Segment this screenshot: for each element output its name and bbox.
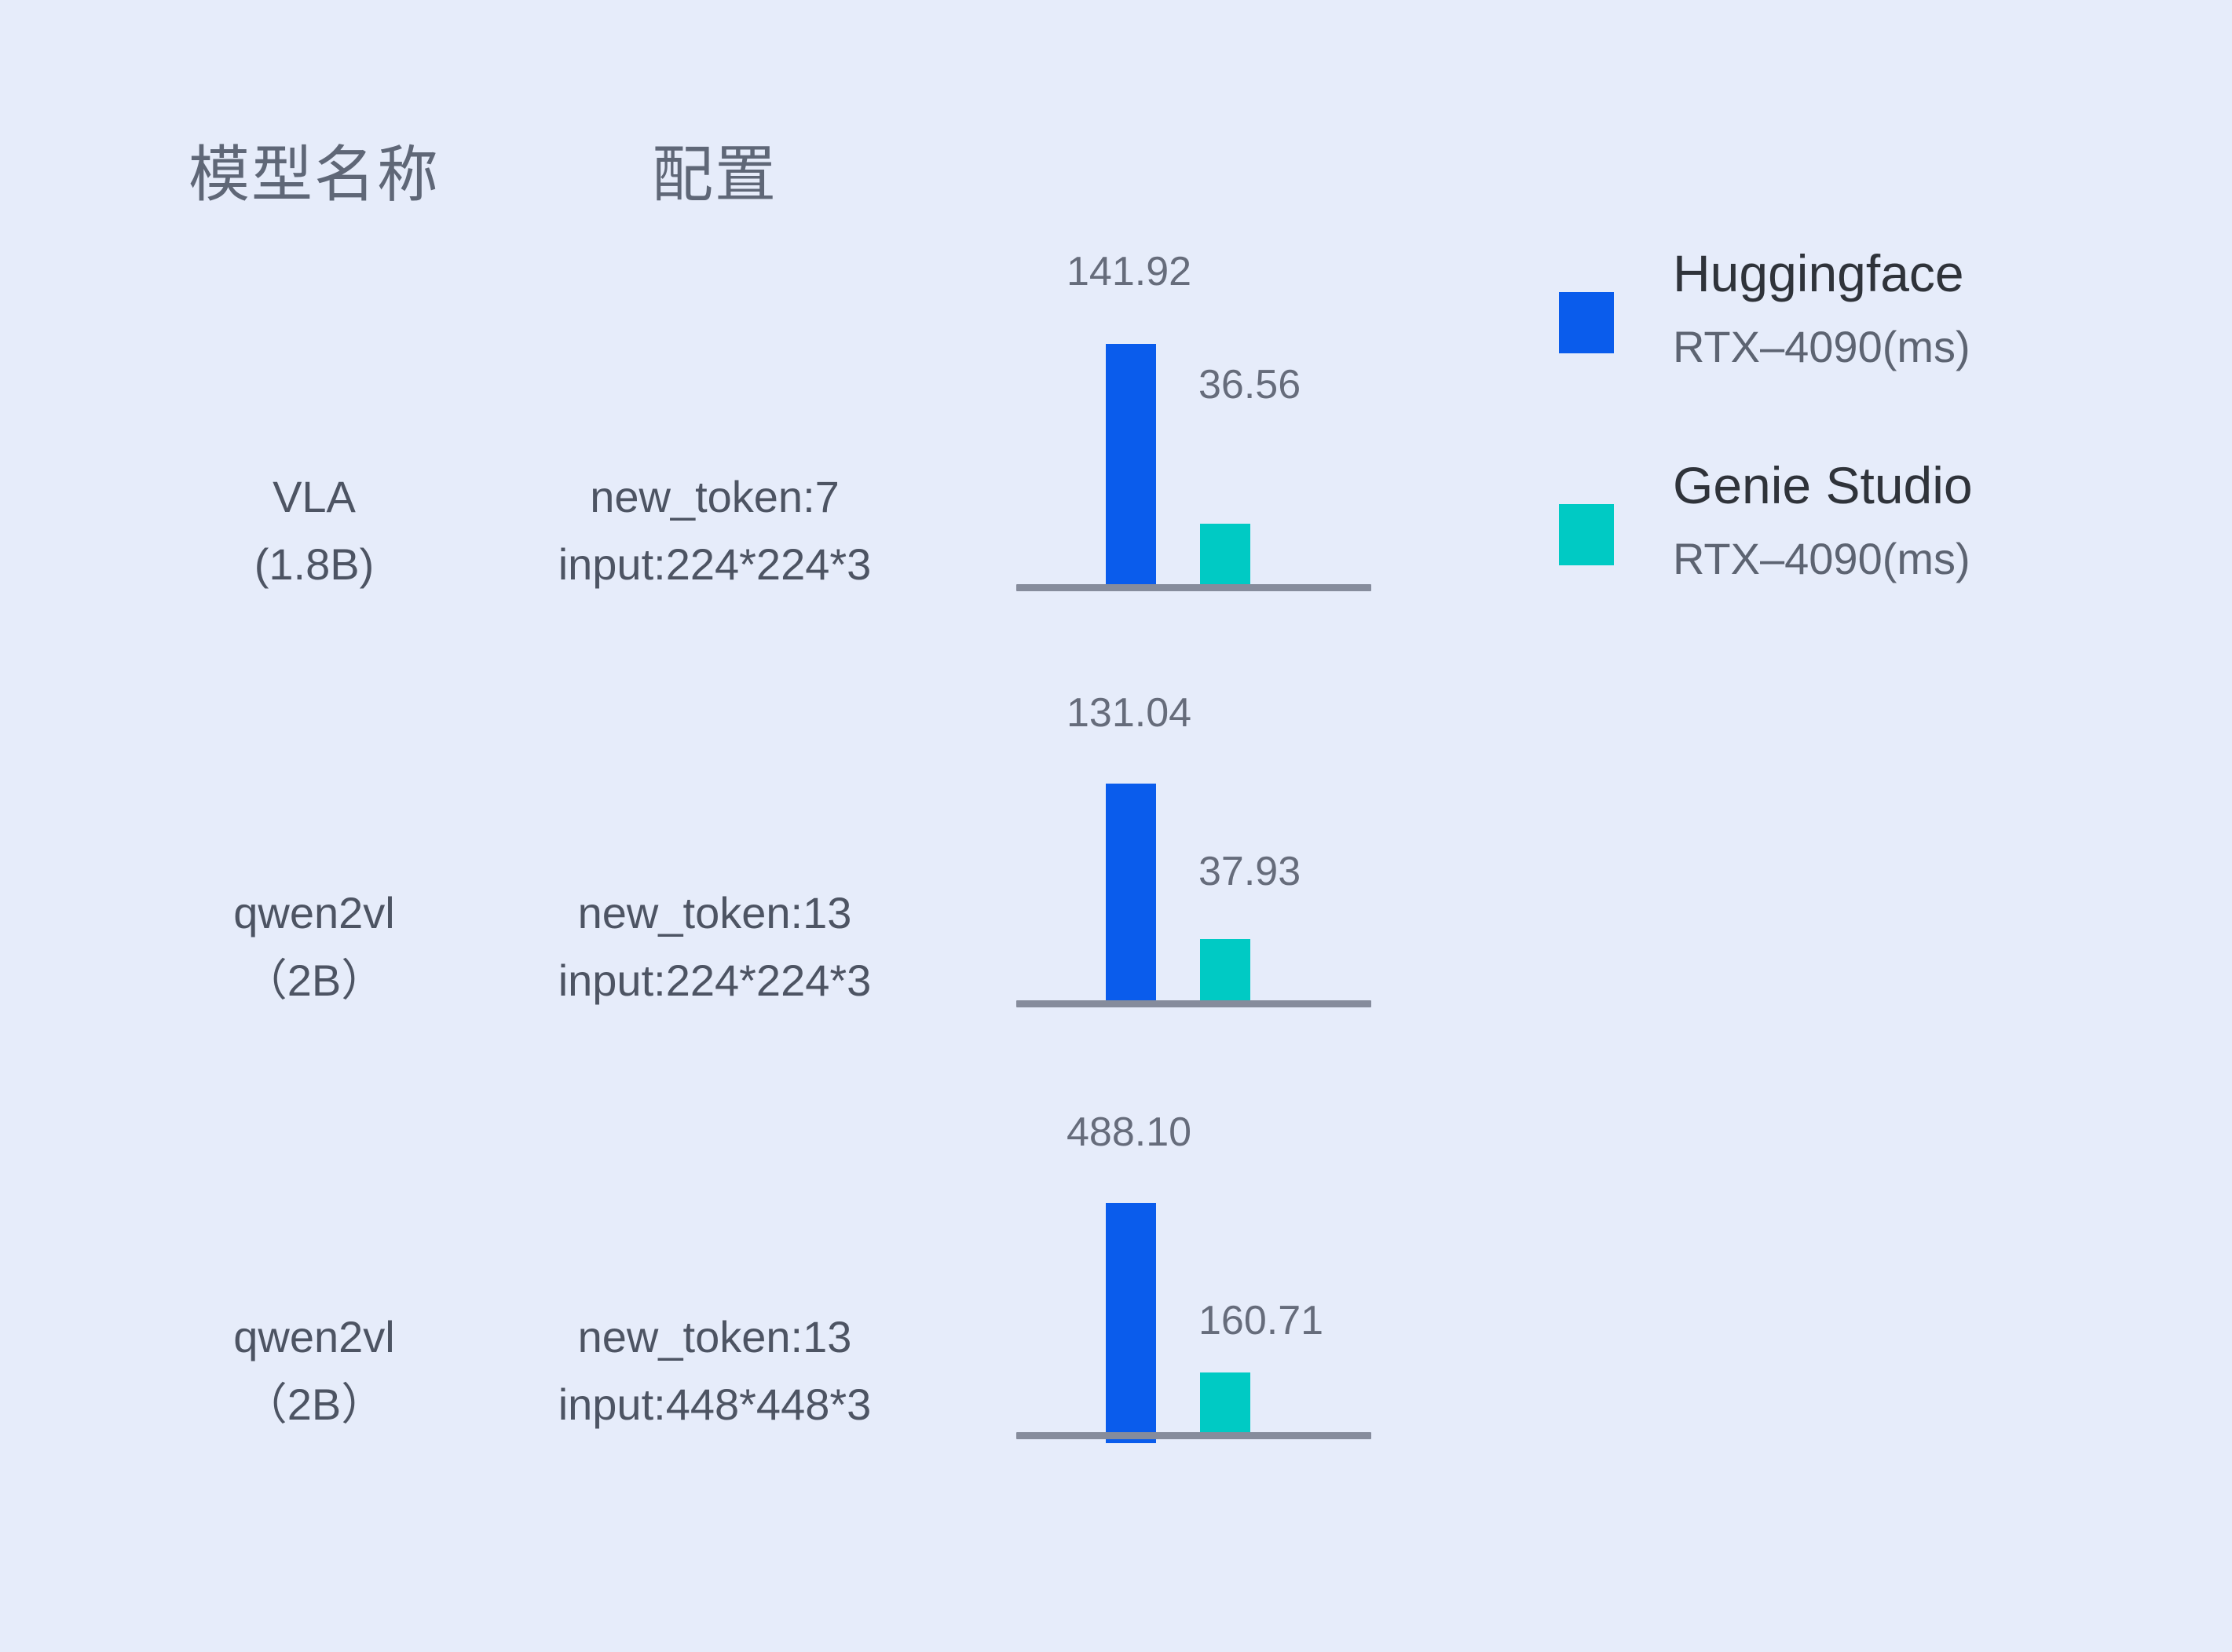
model-name-line-2: (1.8B) bbox=[118, 531, 510, 598]
bar-huggingface bbox=[1106, 344, 1156, 587]
cell-config: new_token:7 input:224*224*3 bbox=[487, 463, 942, 598]
bar-value-label-genie: 160.71 bbox=[1198, 1297, 1323, 1344]
axis-baseline bbox=[1016, 1432, 1371, 1439]
legend-title: Genie Studio bbox=[1673, 448, 2160, 523]
model-name-line-1: VLA bbox=[118, 463, 510, 531]
cell-config: new_token:13 input:224*224*3 bbox=[487, 879, 942, 1014]
config-line-1: new_token:13 bbox=[487, 1303, 942, 1371]
model-name-line-2: （2B） bbox=[118, 1371, 510, 1438]
axis-baseline bbox=[1016, 1000, 1371, 1007]
teal-square-icon bbox=[1559, 504, 1614, 565]
cell-model-name: VLA (1.8B) bbox=[118, 463, 510, 598]
bar-huggingface bbox=[1106, 1203, 1156, 1443]
legend-item-text: Genie Studio RTX–4090(ms) bbox=[1673, 448, 2160, 595]
chart-canvas: 模型名称 配置 VLA (1.8B) new_token:7 input:224… bbox=[0, 0, 2232, 1652]
blue-square-icon bbox=[1559, 292, 1614, 353]
legend-title: Huggingface bbox=[1673, 236, 2160, 311]
column-header-model-name: 模型名称 bbox=[118, 126, 510, 214]
config-line-1: new_token:7 bbox=[487, 463, 942, 531]
bar-genie-studio bbox=[1200, 524, 1250, 587]
cell-config: new_token:13 input:448*448*3 bbox=[487, 1303, 942, 1438]
config-line-2: input:224*224*3 bbox=[487, 531, 942, 598]
bar-value-label-huggingface: 141.92 bbox=[1067, 248, 1191, 295]
legend-subtitle: RTX–4090(ms) bbox=[1673, 311, 2160, 383]
table-row: qwen2vl （2B） new_token:13 input:448*448*… bbox=[0, 1068, 2232, 1476]
bar-group: 488.10 160.71 bbox=[1016, 1068, 1371, 1445]
bar-group: 131.04 37.93 bbox=[1016, 652, 1371, 1013]
bar-huggingface bbox=[1106, 784, 1156, 1003]
config-line-2: input:224*224*3 bbox=[487, 947, 942, 1014]
cell-model-name: qwen2vl （2B） bbox=[118, 879, 510, 1014]
legend-subtitle: RTX–4090(ms) bbox=[1673, 523, 2160, 595]
column-header-config: 配置 bbox=[518, 126, 911, 214]
model-name-line-1: qwen2vl bbox=[118, 1303, 510, 1371]
table-row: qwen2vl （2B） new_token:13 input:224*224*… bbox=[0, 652, 2232, 1044]
bar-group: 141.92 36.56 bbox=[1016, 236, 1371, 597]
model-name-line-1: qwen2vl bbox=[118, 879, 510, 947]
bar-genie-studio bbox=[1200, 1372, 1250, 1435]
bar-value-label-huggingface: 131.04 bbox=[1067, 689, 1191, 736]
legend-item-text: Huggingface RTX–4090(ms) bbox=[1673, 236, 2160, 383]
bar-value-label-genie: 36.56 bbox=[1198, 361, 1301, 408]
cell-model-name: qwen2vl （2B） bbox=[118, 1303, 510, 1438]
axis-baseline bbox=[1016, 584, 1371, 591]
model-name-line-2: （2B） bbox=[118, 947, 510, 1014]
config-line-2: input:448*448*3 bbox=[487, 1371, 942, 1438]
bar-value-label-huggingface: 488.10 bbox=[1067, 1109, 1191, 1156]
bar-genie-studio bbox=[1200, 939, 1250, 1003]
config-line-1: new_token:13 bbox=[487, 879, 942, 947]
bar-value-label-genie: 37.93 bbox=[1198, 848, 1301, 895]
